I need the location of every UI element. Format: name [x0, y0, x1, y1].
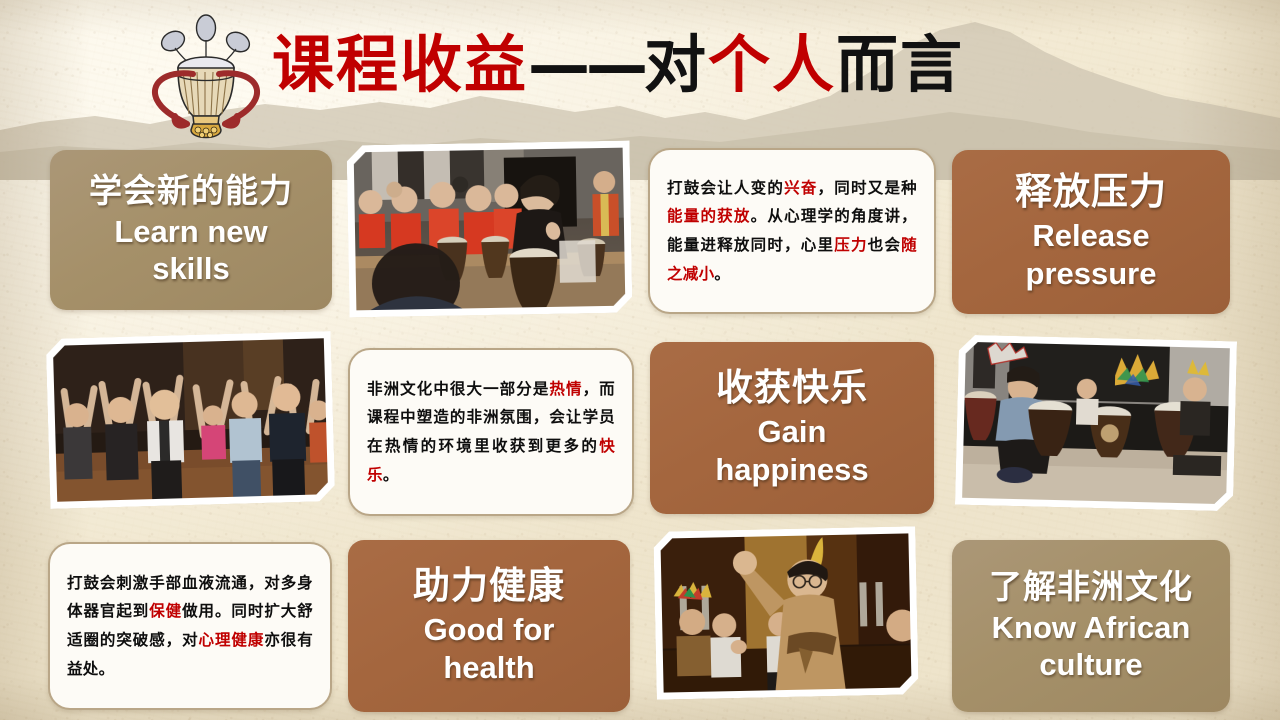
cheering-man-photo: [653, 526, 918, 699]
djembe-drum-logo: [145, 12, 267, 140]
run: 打鼓会让人变的: [667, 179, 784, 197]
card-en-line-1: Know African: [992, 610, 1191, 645]
card-en-line-1: Release: [1032, 218, 1149, 253]
card-en-line-1: Good for: [424, 612, 555, 647]
title-part-5: 而言: [836, 28, 964, 101]
title-part-4: 个人: [708, 28, 836, 101]
floor-drumming-image: [962, 342, 1230, 504]
run: ，同时又是种: [818, 179, 917, 197]
drum-circle-image: [354, 148, 626, 311]
run: 。: [383, 466, 399, 484]
page-title: 课程收益——对个人而言: [272, 34, 964, 96]
bubble-pressure-note: 打鼓会让人变的兴奋，同时又是种能量的获放。从心理学的角度讲，能量进释放同时，心里…: [648, 148, 936, 314]
title-part-3: 对: [644, 28, 708, 101]
run: 。: [714, 265, 730, 283]
slide-canvas: 课程收益——对个人而言 学会新的能力 Learn new skills: [0, 0, 1280, 720]
run-highlight: 能量的获放: [667, 207, 751, 225]
dancing-crowd-image: [53, 338, 328, 502]
card-title-cn: 学会新的能力: [89, 172, 293, 210]
card-title-en: Gain happiness: [707, 413, 876, 489]
card-en-line-1: Gain: [758, 414, 827, 449]
card-en-line-2: pressure: [1026, 256, 1157, 291]
card-en-line-2: culture: [1039, 647, 1142, 682]
card-title-en: Know African culture: [984, 609, 1199, 685]
bubble-text: 非洲文化中很大一部分是热情，而课程中塑造的非洲氛围，会让学员在热情的环境里收获到…: [350, 375, 632, 490]
card-title-cn: 释放压力: [1015, 171, 1167, 214]
bubble-text: 打鼓会让人变的兴奋，同时又是种能量的获放。从心理学的角度讲，能量进释放同时，心里…: [650, 174, 934, 289]
card-know-african-culture[interactable]: 了解非洲文化 Know African culture: [952, 540, 1230, 712]
run-highlight: 压力: [834, 236, 867, 254]
run-highlight: 热情: [549, 380, 582, 398]
card-title-en: Learn new skills: [106, 213, 275, 289]
bubble-health-note: 打鼓会刺激手部血液流通，对多身体器官起到保健做用。同时扩大舒适圈的突破感，对心理…: [48, 542, 332, 710]
bubble-text: 打鼓会刺激手部血液流通，对多身体器官起到保健做用。同时扩大舒适圈的突破感，对心理…: [50, 569, 330, 684]
card-good-for-health[interactable]: 助力健康 Good for health: [348, 540, 630, 712]
card-release-pressure[interactable]: 释放压力 Release pressure: [952, 150, 1230, 314]
cheering-man-image: [660, 533, 911, 692]
card-title-en: Release pressure: [1018, 217, 1165, 293]
card-learn-new-skills[interactable]: 学会新的能力 Learn new skills: [50, 150, 332, 310]
card-en-line-2: health: [443, 650, 534, 685]
floor-drumming-photo: [955, 335, 1237, 512]
run-highlight: 兴奋: [784, 179, 817, 197]
card-gain-happiness[interactable]: 收获快乐 Gain happiness: [650, 342, 934, 514]
card-title-cn: 了解非洲文化: [989, 568, 1193, 606]
title-part-1: 课程收益: [272, 28, 528, 101]
run-highlight: 心理健康: [199, 631, 265, 649]
dancing-crowd-photo: [46, 331, 336, 509]
title-row: 课程收益——对个人而言: [0, 8, 1280, 128]
run: 非洲文化中很大一部分是: [367, 380, 549, 398]
card-title-en: Good for health: [416, 611, 563, 687]
card-en-line-2: skills: [152, 251, 230, 286]
bubble-happiness-note: 非洲文化中很大一部分是热情，而课程中塑造的非洲氛围，会让学员在热情的环境里收获到…: [348, 348, 634, 516]
card-title-cn: 助力健康: [413, 565, 565, 608]
run-highlight: 保健: [149, 602, 182, 620]
card-title-cn: 收获快乐: [716, 367, 868, 410]
drum-circle-photo: [347, 141, 633, 318]
title-dash: ——: [528, 28, 644, 101]
card-en-line-2: happiness: [715, 452, 868, 487]
run: 也会: [868, 236, 901, 254]
card-en-line-1: Learn new: [114, 214, 267, 249]
